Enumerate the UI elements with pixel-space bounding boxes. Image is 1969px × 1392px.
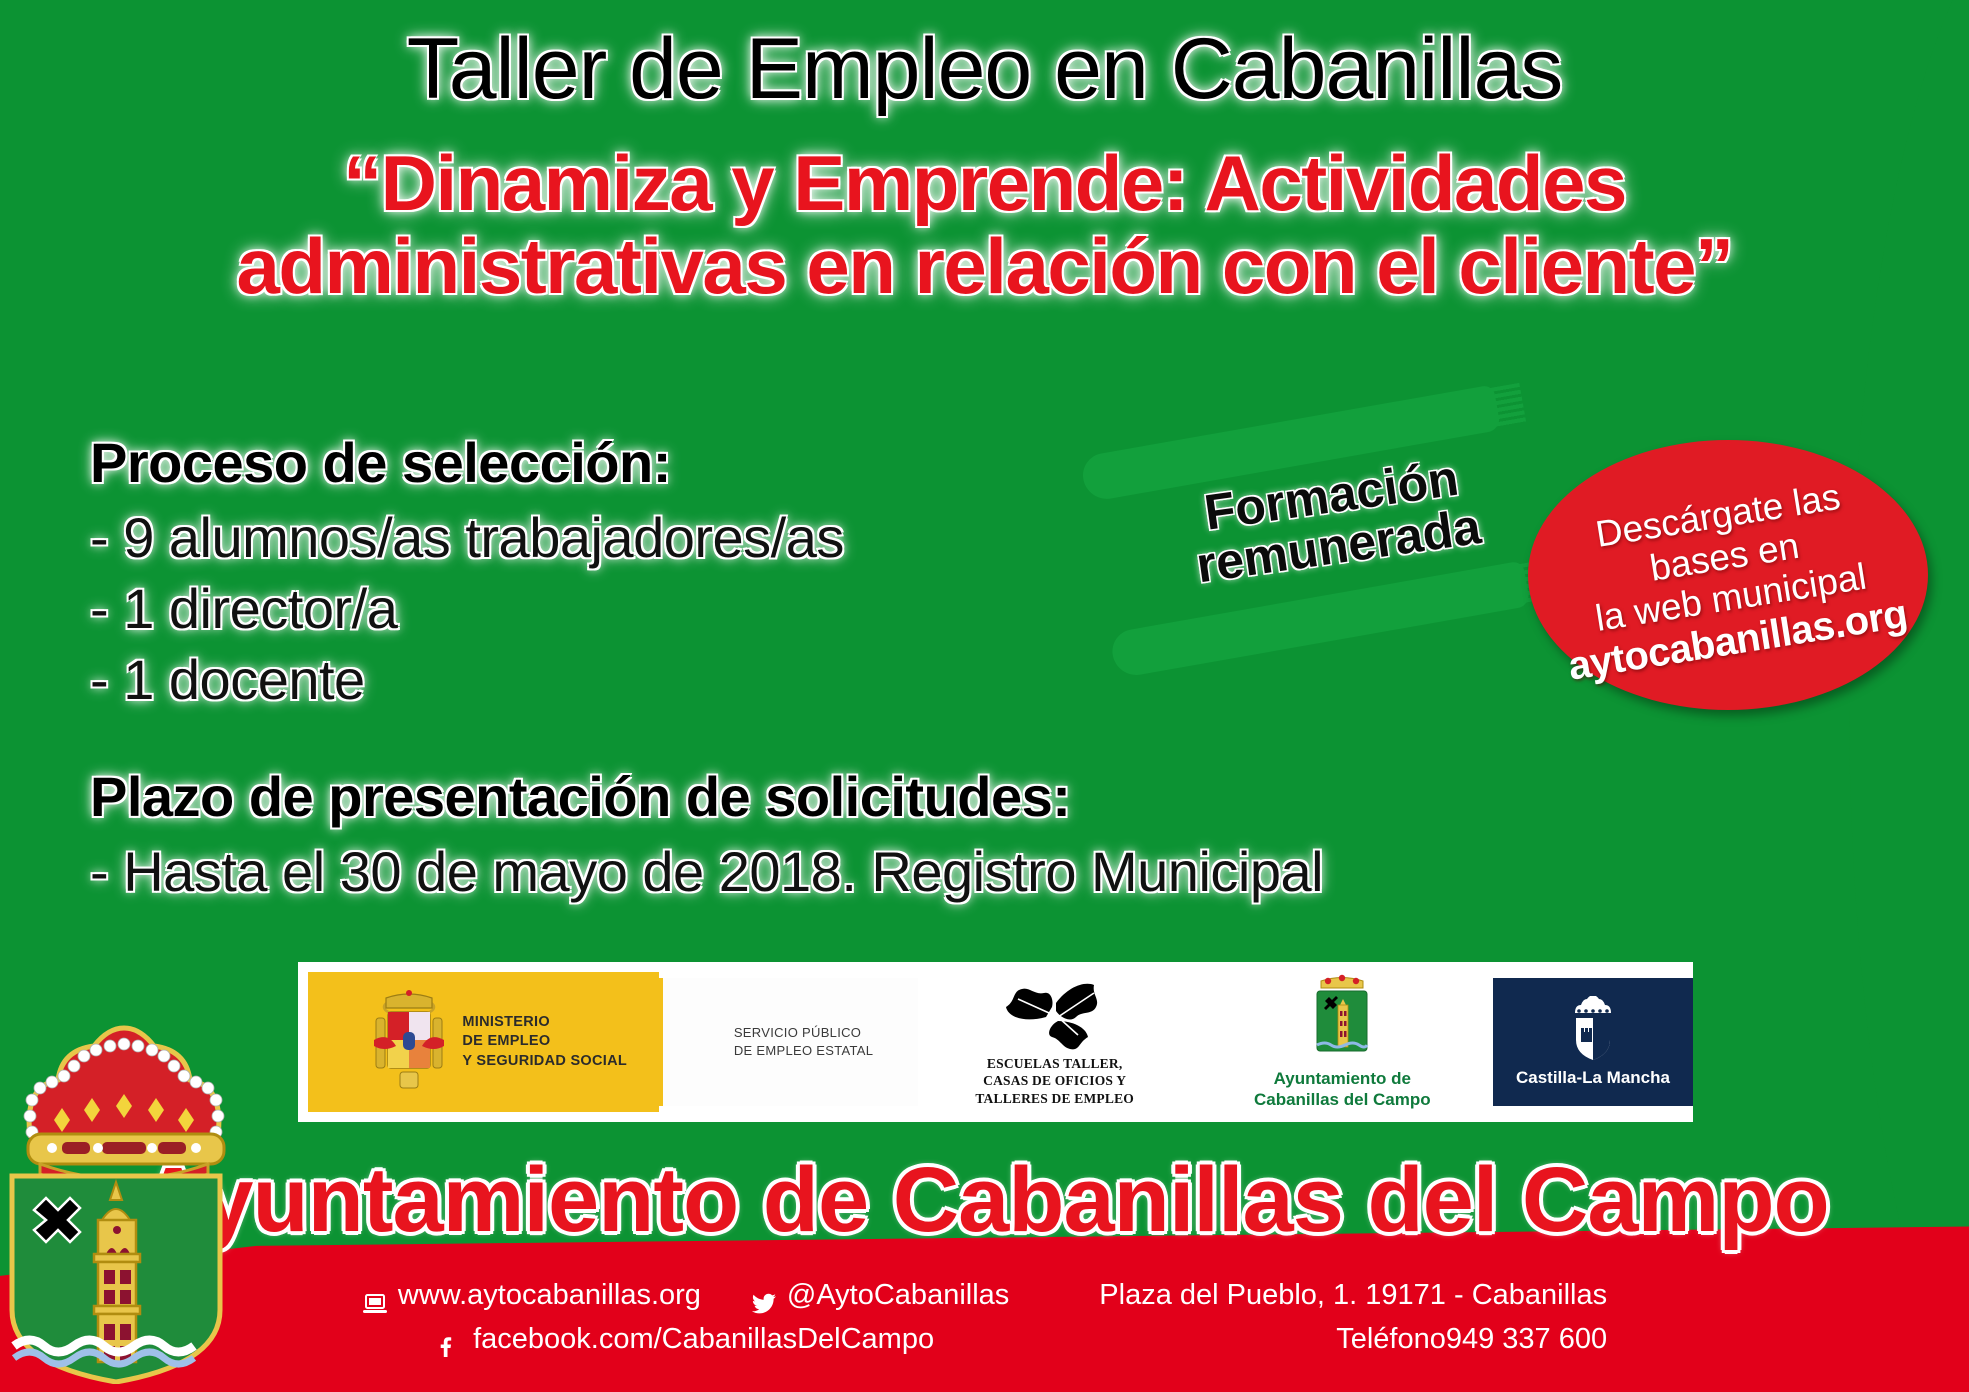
list-item: - 9 alumnos/as trabajadores/as (90, 505, 1250, 570)
footer-website[interactable]: www.aytocabanillas.org (398, 1274, 701, 1318)
organization-headline: Ayuntamiento de Cabanillas del Campo (0, 1148, 1969, 1253)
list-item: - 1 docente (90, 647, 1250, 712)
footer-contact: www.aytocabanillas.org @AytoCabanillas f… (0, 1268, 1969, 1392)
ministerio-line1: MINISTERIO (462, 1013, 627, 1033)
logo-sepe: SERVICIO PÚBLICO DE EMPLEO ESTATAL (659, 978, 917, 1106)
footer-address: Plaza del Pueblo, 1. 19171 - Cabanillas (1099, 1274, 1607, 1318)
course-subtitle: “Dinamiza y Emprende: Actividades admini… (60, 142, 1909, 307)
deadline-heading: Plazo de presentación de solicitudes: (90, 764, 1250, 829)
poster-root: Taller de Empleo en Cabanillas “Dinamiza… (0, 0, 1969, 1392)
crown-icon (24, 1028, 224, 1190)
selection-heading: Proceso de selección: (90, 430, 1250, 495)
ayto-line2: Cabanillas del Campo (1254, 1090, 1431, 1111)
footer-facebook[interactable]: facebook.com/CabanillasDelCampo (473, 1318, 934, 1362)
logo-ministerio-empleo: MINISTERIO DE EMPLEO Y SEGURIDAD SOCIAL (308, 972, 659, 1112)
download-bases-badge[interactable] (1528, 440, 1928, 710)
clm-shield-icon (1566, 996, 1620, 1062)
ministerio-line3: Y SEGURIDAD SOCIAL (462, 1052, 627, 1072)
cabanillas-shield-icon (1303, 973, 1381, 1065)
sepe-line1: SERVICIO PÚBLICO (734, 1024, 873, 1042)
sepe-line2: DE EMPLEO ESTATAL (734, 1042, 873, 1060)
logo-ayuntamiento: Ayuntamiento de Cabanillas del Campo (1192, 962, 1493, 1122)
footer-row-web: www.aytocabanillas.org @AytoCabanillas (362, 1274, 1009, 1318)
laptop-icon (362, 1285, 388, 1307)
logo-ayuntamiento-text: Ayuntamiento de Cabanillas del Campo (1254, 1069, 1431, 1110)
logo-sepe-text: SERVICIO PÚBLICO DE EMPLEO ESTATAL (734, 1024, 873, 1060)
logo-escuelas-taller: ESCUELAS TALLER, CASAS DE OFICIOS Y TALL… (918, 962, 1192, 1122)
escuelas-line2: CASAS DE OFICIOS Y (975, 1072, 1134, 1089)
oak-leaves-icon (996, 977, 1114, 1053)
block-spacer (90, 718, 1250, 764)
ministerio-line2: DE EMPLEO (462, 1032, 627, 1052)
escuelas-line3: TALLERES DE EMPLEO (975, 1090, 1134, 1107)
spain-coat-of-arms-icon (370, 988, 448, 1096)
escuelas-line1: ESCUELAS TALLER, (975, 1055, 1134, 1072)
sponsor-logo-strip: MINISTERIO DE EMPLEO Y SEGURIDAD SOCIAL … (298, 962, 1693, 1122)
logo-castilla-la-mancha: Castilla-La Mancha (1493, 962, 1693, 1122)
page-title: Taller de Empleo en Cabanillas (0, 26, 1969, 112)
footer-row-facebook: facebook.com/CabanillasDelCampo (362, 1318, 1009, 1362)
municipal-coat-of-arms (6, 1024, 234, 1384)
footer-social: www.aytocabanillas.org @AytoCabanillas f… (362, 1274, 1009, 1361)
info-block: Proceso de selección: - 9 alumnos/as tra… (90, 430, 1250, 910)
list-item: - 1 director/a (90, 576, 1250, 641)
footer-twitter[interactable]: @AytoCabanillas (787, 1274, 1009, 1318)
twitter-icon (751, 1285, 777, 1307)
facebook-icon (437, 1328, 463, 1350)
list-item: - Hasta el 30 de mayo de 2018. Registro … (90, 839, 1250, 904)
clm-box: Castilla-La Mancha (1493, 978, 1693, 1106)
shield-icon (12, 1176, 220, 1382)
footer-phone: Teléfono949 337 600 (1099, 1318, 1607, 1362)
logo-ministerio-text: MINISTERIO DE EMPLEO Y SEGURIDAD SOCIAL (462, 1013, 627, 1072)
ayto-line1: Ayuntamiento de (1254, 1069, 1431, 1090)
footer-address-block: Plaza del Pueblo, 1. 19171 - Cabanillas … (1099, 1274, 1607, 1361)
pylon-disc (372, 300, 522, 430)
logo-escuelas-text: ESCUELAS TALLER, CASAS DE OFICIOS Y TALL… (975, 1055, 1134, 1107)
logo-clm-text: Castilla-La Mancha (1516, 1068, 1670, 1088)
